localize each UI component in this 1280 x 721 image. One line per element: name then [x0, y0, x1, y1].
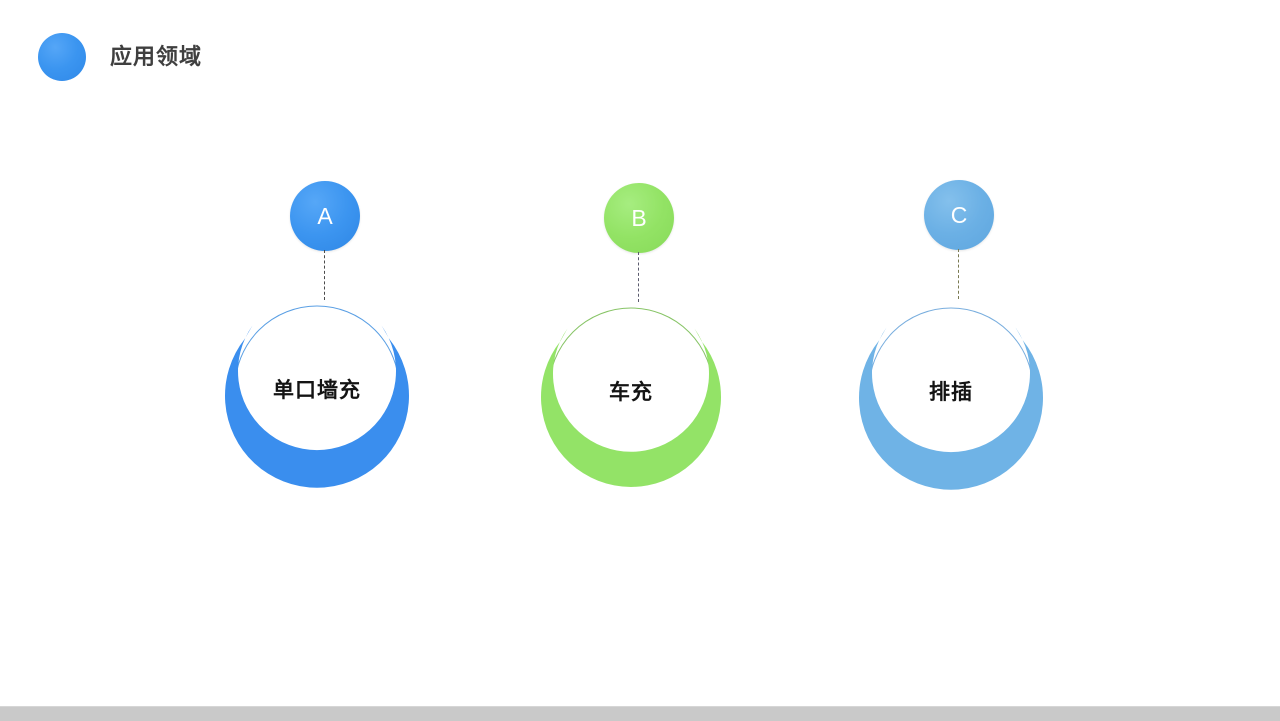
ring-b[interactable]: 车充 [526, 292, 736, 492]
group-b[interactable]: B 车充 [510, 0, 770, 500]
ring-arc-a-icon [212, 290, 422, 490]
badge-circle-c[interactable]: C [924, 180, 994, 250]
ring-arc-b-icon [526, 292, 736, 492]
group-a[interactable]: A 单口墙充 [195, 0, 455, 500]
ring-a[interactable]: 单口墙充 [212, 290, 422, 490]
badge-circle-b[interactable]: B [604, 183, 674, 253]
page-title: 应用领域 [110, 46, 202, 68]
group-c[interactable]: C 排插 [830, 0, 1090, 500]
badge-letter-b: B [631, 207, 646, 230]
badge-letter-a: A [317, 205, 332, 228]
slide-header: 应用领域 [38, 33, 202, 81]
badge-circle-a[interactable]: A [290, 181, 360, 251]
badge-letter-c: C [951, 204, 968, 227]
ring-arc-c-icon [846, 292, 1056, 492]
filled-circle-icon [38, 33, 86, 81]
slide-canvas: 应用领域 A 单口墙充 B 车充 C [0, 0, 1280, 720]
bottom-status-bar [0, 706, 1280, 721]
ring-c[interactable]: 排插 [846, 292, 1056, 492]
